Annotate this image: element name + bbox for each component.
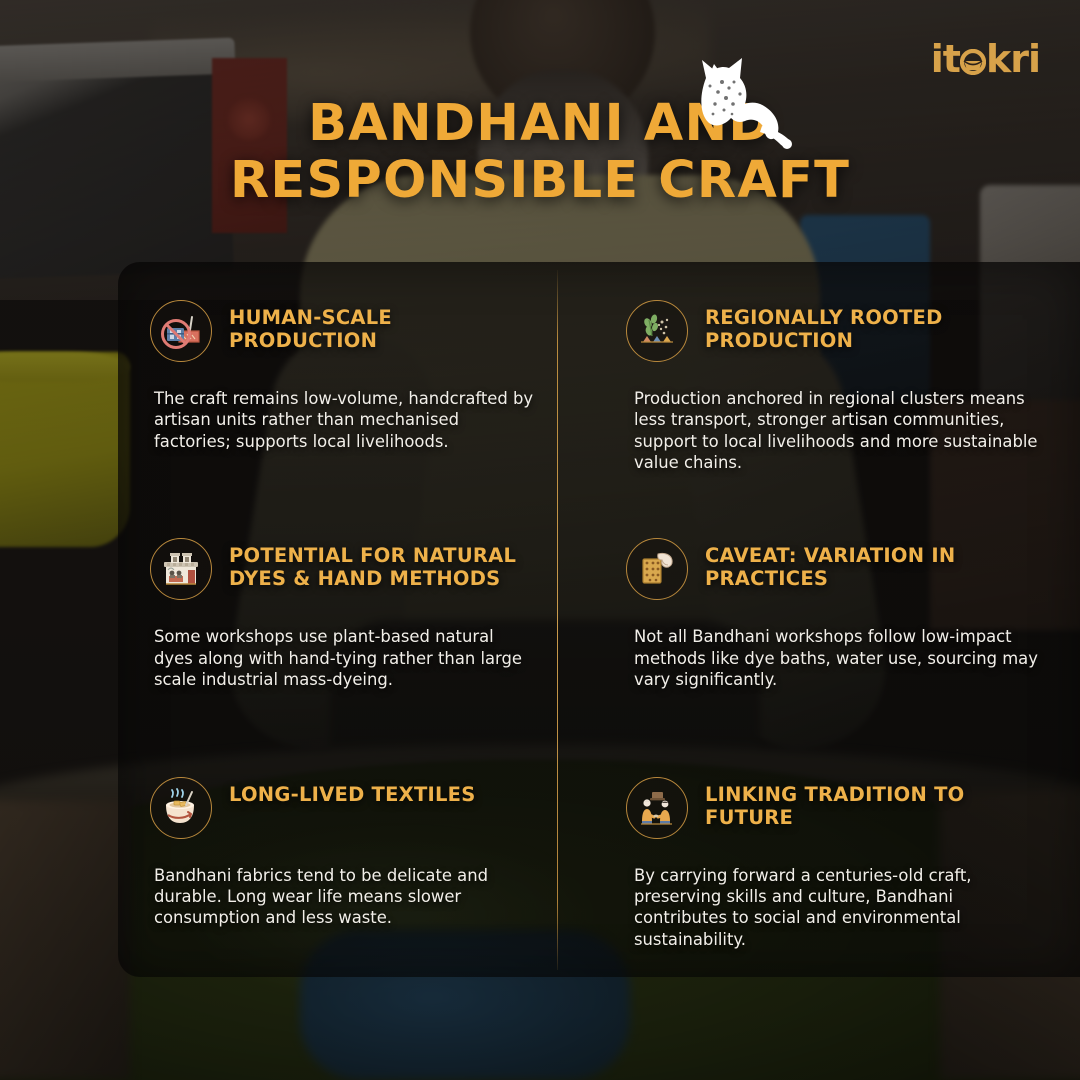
title-line-2: RESPONSIBLE CRAFT [230, 151, 850, 210]
card-body: The craft remains low-volume, handcrafte… [150, 362, 536, 452]
workshop-building-icon [150, 538, 212, 600]
seedling-soil-icon [626, 300, 688, 362]
card-body: Bandhani fabrics tend to be delicate and… [150, 839, 536, 929]
card-human-scale-production: HUMAN-SCALE PRODUCTION The craft remains… [118, 262, 558, 500]
cat-silhouette-icon [688, 52, 798, 152]
card-natural-dyes-hand-methods: POTENTIAL FOR NATURAL DYES & HAND METHOD… [118, 500, 558, 738]
no-factory-machine-icon [150, 300, 212, 362]
logo-text-after: kri [986, 37, 1040, 81]
card-body: Some workshops use plant-based natural d… [150, 600, 536, 690]
card-title: LINKING TRADITION TO FUTURE [705, 777, 1050, 829]
card-title: LONG-LIVED TEXTILES [229, 777, 476, 806]
itokri-logo[interactable]: it kri [931, 40, 1040, 78]
card-body: Not all Bandhani workshops follow low-im… [626, 600, 1046, 690]
card-long-lived-textiles: LONG-LIVED TEXTILES Bandhani fabrics ten… [118, 739, 558, 977]
hand-holding-patterned-fabric-icon [626, 538, 688, 600]
steaming-dye-pot-icon [150, 777, 212, 839]
card-title: HUMAN-SCALE PRODUCTION [229, 300, 536, 352]
basket-o-icon [960, 49, 986, 75]
infographic-poster: it kri BANDHANI AND RESPONSIBLE CRAFT [0, 0, 1080, 1080]
card-linking-tradition-to-future: LINKING TRADITION TO FUTURE By carrying … [558, 739, 1080, 977]
two-artisans-working-icon [626, 777, 688, 839]
logo-text-before: it [931, 37, 960, 81]
cards-grid: HUMAN-SCALE PRODUCTION The craft remains… [118, 262, 1080, 977]
card-title: POTENTIAL FOR NATURAL DYES & HAND METHOD… [229, 538, 536, 590]
card-body: By carrying forward a centuries-old craf… [626, 839, 1046, 950]
card-title: REGIONALLY ROOTED PRODUCTION [705, 300, 1050, 352]
card-title: CAVEAT: VARIATION IN PRACTICES [705, 538, 1050, 590]
card-body: Production anchored in regional clusters… [626, 362, 1046, 473]
card-regionally-rooted-production: REGIONALLY ROOTED PRODUCTION Production … [558, 262, 1080, 500]
card-caveat-variation-in-practices: CAVEAT: VARIATION IN PRACTICES Not all B… [558, 500, 1080, 738]
page-title: BANDHANI AND RESPONSIBLE CRAFT [0, 95, 1080, 209]
